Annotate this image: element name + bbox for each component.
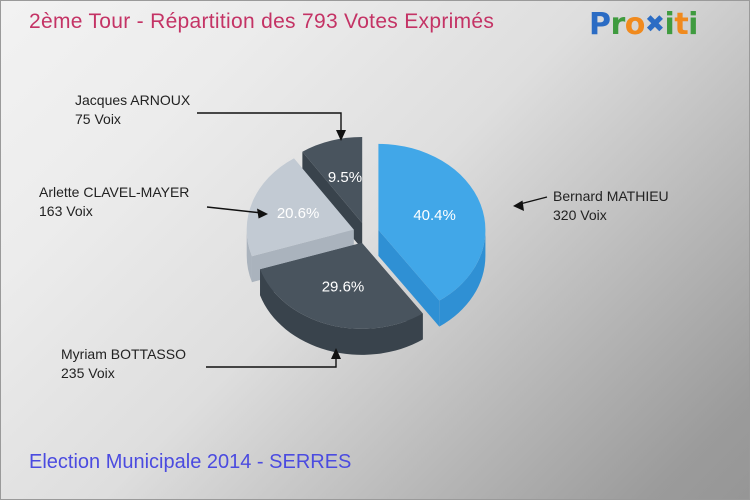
leader-arrow-mathieu xyxy=(513,201,524,212)
callout-bottasso-votes: 235 Voix xyxy=(61,364,186,383)
pie-slice-percent-label: 9.5% xyxy=(328,169,362,186)
pie-slice-percent-label: 40.4% xyxy=(413,207,456,224)
callout-mathieu-name: Bernard MATHIEU xyxy=(553,187,669,206)
leader-line-mathieu xyxy=(520,197,547,204)
pie-chart: 40.4%29.6%20.6%9.5% xyxy=(1,1,750,500)
pie-slices xyxy=(247,137,486,355)
leader-line-arnoux xyxy=(197,113,341,134)
callout-bottasso-name: Myriam BOTTASSO xyxy=(61,345,186,364)
pie-slice-percent-label: 20.6% xyxy=(277,205,320,222)
footer-caption: Election Municipale 2014 - SERRES xyxy=(29,451,351,474)
callout-bottasso: Myriam BOTTASSO 235 Voix xyxy=(61,345,186,383)
pie-slice-percent-label: 29.6% xyxy=(322,279,365,296)
callout-clavel-mayer-votes: 163 Voix xyxy=(39,202,189,221)
callout-mathieu-votes: 320 Voix xyxy=(553,206,669,225)
callout-arnoux-name: Jacques ARNOUX xyxy=(75,91,190,110)
chart-page: 2ème Tour - Répartition des 793 Votes Ex… xyxy=(0,0,750,500)
callout-arnoux-votes: 75 Voix xyxy=(75,110,190,129)
callout-clavel-mayer-name: Arlette CLAVEL-MAYER xyxy=(39,183,189,202)
callout-arnoux: Jacques ARNOUX 75 Voix xyxy=(75,91,190,129)
leader-line-bottasso xyxy=(206,356,336,367)
callout-mathieu: Bernard MATHIEU 320 Voix xyxy=(553,187,669,225)
callout-clavel-mayer: Arlette CLAVEL-MAYER 163 Voix xyxy=(39,183,189,221)
